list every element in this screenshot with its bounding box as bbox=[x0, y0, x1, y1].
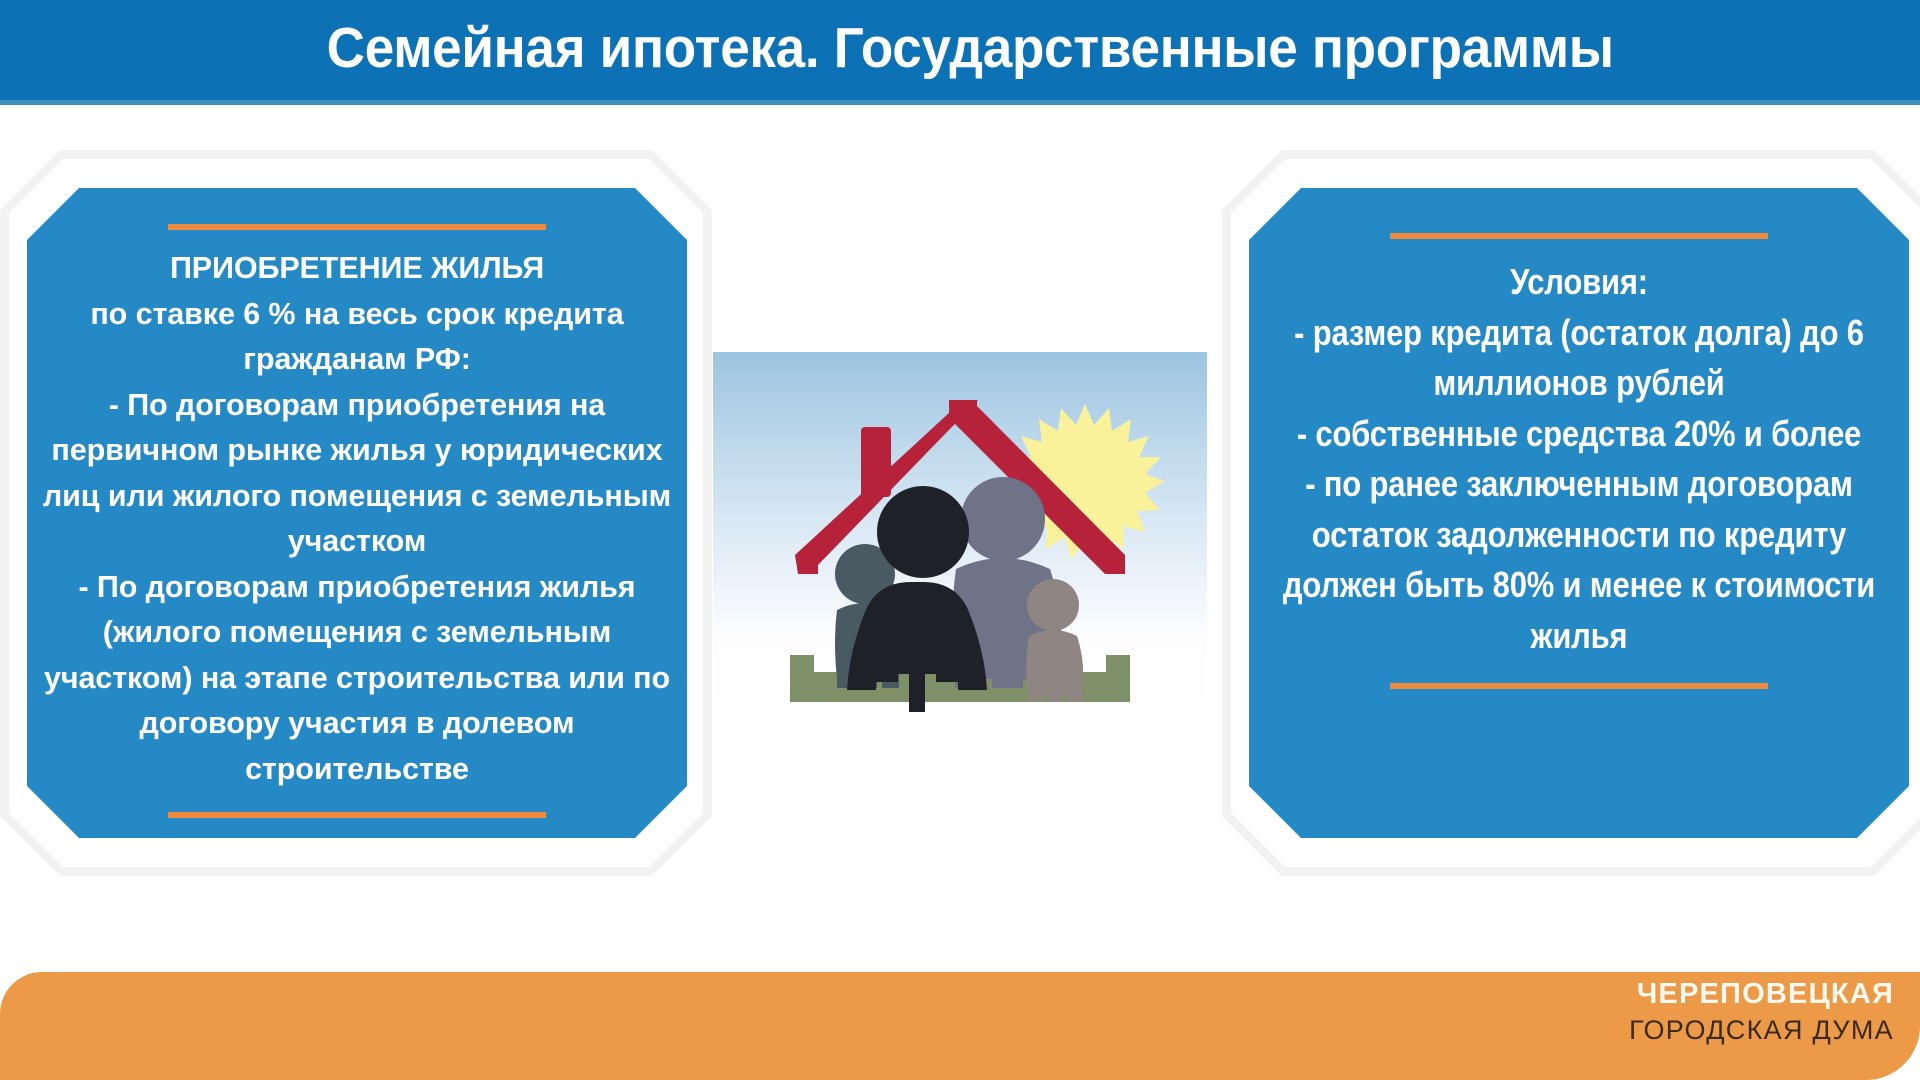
logo-line-primary: ЧЕРЕПОВЕЦКАЯ bbox=[1629, 980, 1894, 1009]
panel-acquisition-text: ПРИОБРЕТЕНИЕ ЖИЛЬЯ по ставке 6 % на весь… bbox=[37, 246, 677, 792]
logo-line-secondary: ГОРОДСКАЯ ДУМА bbox=[1629, 1017, 1894, 1044]
panel-acquisition-body: ПРИОБРЕТЕНИЕ ЖИЛЬЯ по ставке 6 % на весь… bbox=[27, 188, 687, 838]
figure-child-right bbox=[1026, 579, 1083, 701]
panel-conditions: Условия: - размер кредита (остаток долга… bbox=[1222, 150, 1920, 876]
accent-rule-bottom bbox=[1390, 683, 1768, 689]
family-under-house-roof-icon bbox=[713, 352, 1207, 718]
panel-conditions-body: Условия: - размер кредита (остаток долга… bbox=[1249, 188, 1909, 838]
accent-rule-bottom bbox=[168, 812, 546, 818]
family-house-illustration bbox=[713, 352, 1207, 718]
accent-rule-top bbox=[1390, 233, 1768, 239]
panel-conditions-text: Условия: - размер кредита (остаток долга… bbox=[1278, 257, 1880, 661]
header-banner: Семейная ипотека. Государственные програ… bbox=[0, 0, 1920, 105]
slide-root: Семейная ипотека. Государственные програ… bbox=[0, 0, 1920, 1080]
accent-rule-top bbox=[168, 224, 546, 230]
footer-banner: ЧЕРЕПОВЕЦКАЯ ГОРОДСКАЯ ДУМА bbox=[0, 972, 1920, 1080]
page-title: Семейная ипотека. Государственные програ… bbox=[67, 0, 1853, 100]
panel-acquisition: ПРИОБРЕТЕНИЕ ЖИЛЬЯ по ставке 6 % на весь… bbox=[0, 150, 712, 876]
organization-logo: ЧЕРЕПОВЕЦКАЯ ГОРОДСКАЯ ДУМА bbox=[1629, 980, 1894, 1044]
